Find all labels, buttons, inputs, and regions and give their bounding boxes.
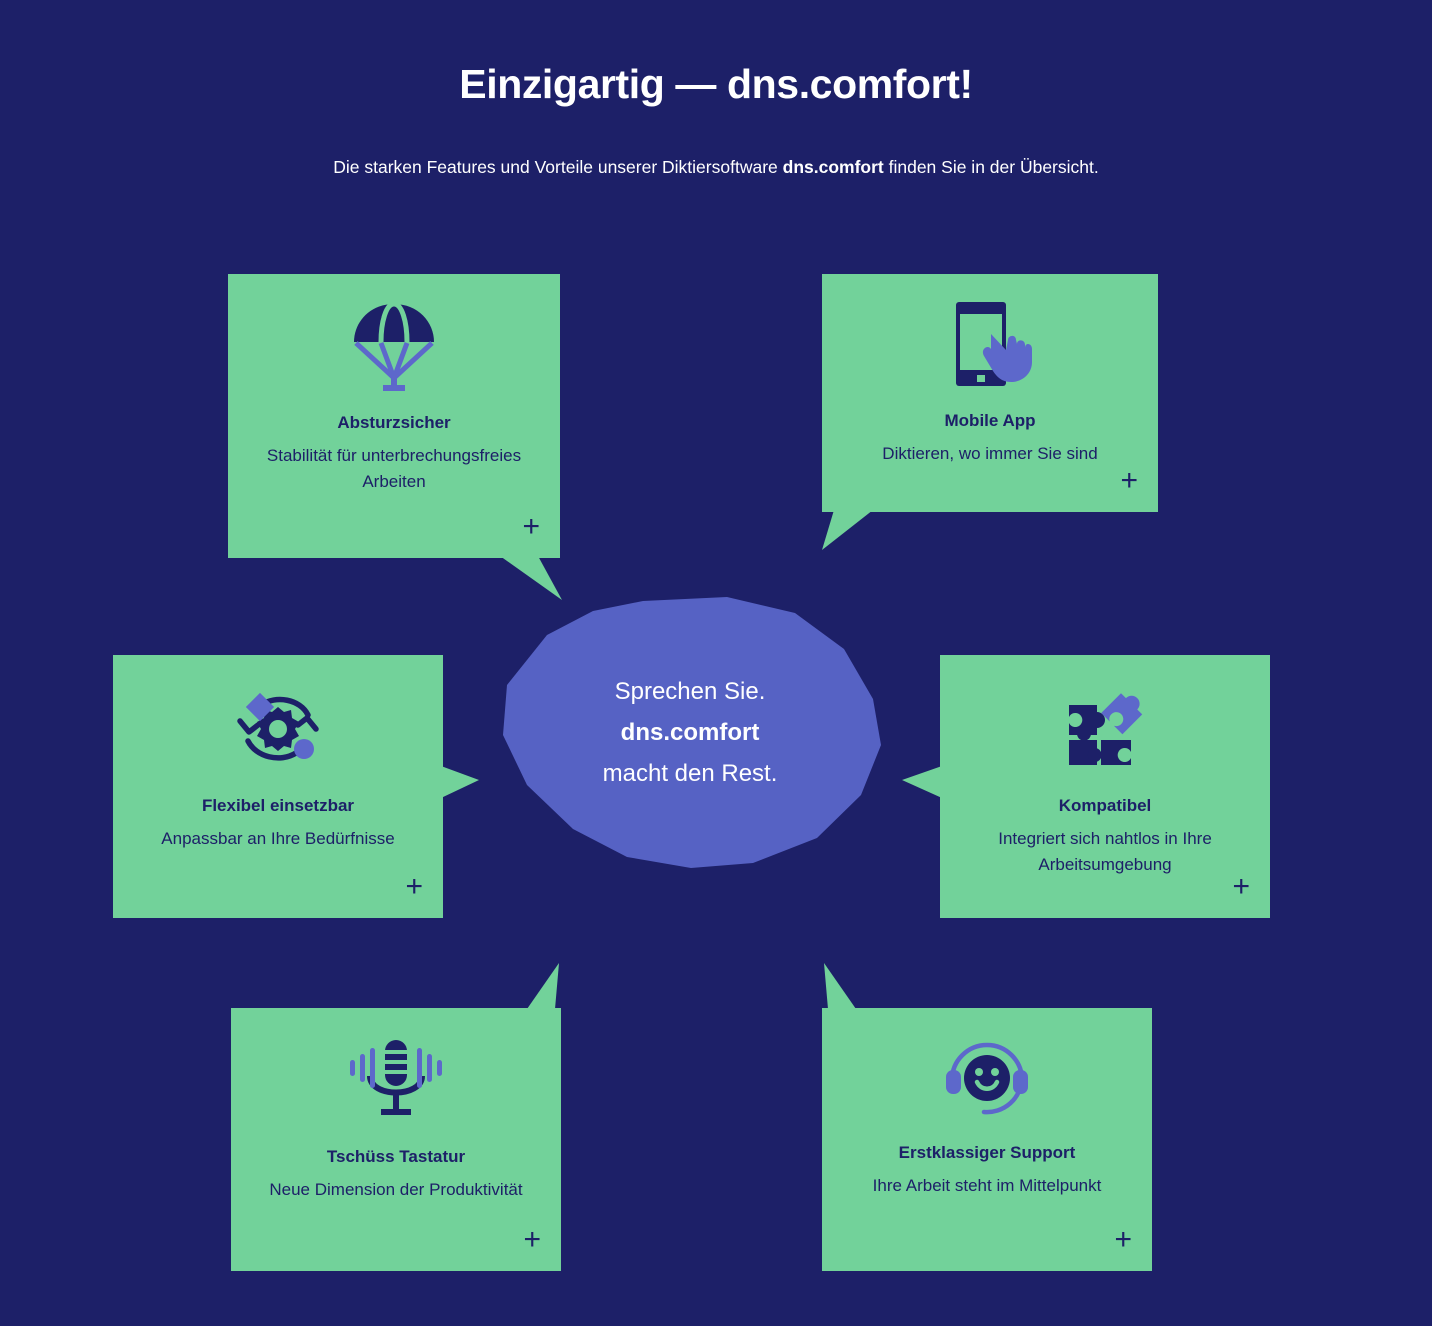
- page-subtitle: Die starken Features und Vorteile unsere…: [301, 153, 1131, 181]
- expand-plus-icon[interactable]: +: [522, 512, 540, 542]
- card-title: Flexibel einsetzbar: [202, 795, 354, 818]
- tail-support: [822, 963, 878, 1011]
- blob-line-1: Sprechen Sie.: [615, 671, 766, 712]
- feature-card-mobile-app[interactable]: Mobile App Diktieren, wo immer Sie sind …: [822, 274, 1158, 512]
- mobile-tap-icon: [944, 300, 1036, 388]
- puzzle-icon: [1055, 685, 1155, 765]
- feature-card-absturzsicher[interactable]: Absturzsicher Stabilität für unterbrechu…: [228, 274, 560, 558]
- tail-flexibel: [441, 766, 483, 802]
- card-title: Kompatibel: [1059, 795, 1152, 818]
- expand-plus-icon[interactable]: +: [523, 1225, 541, 1255]
- parachute-icon: [352, 300, 436, 392]
- card-title: Absturzsicher: [337, 412, 450, 435]
- card-description: Diktieren, wo immer Sie sind: [882, 441, 1097, 467]
- feature-card-erstklassiger-support[interactable]: Erstklassiger Support Ihre Arbeit steht …: [822, 1008, 1152, 1271]
- card-title: Mobile App: [945, 410, 1036, 433]
- expand-plus-icon[interactable]: +: [1232, 872, 1250, 902]
- blob-line-2: dns.comfort: [621, 712, 760, 753]
- expand-plus-icon[interactable]: +: [1114, 1225, 1132, 1255]
- feature-diagram: Absturzsicher Stabilität für unterbrechu…: [0, 0, 1432, 1326]
- card-title: Tschüss Tastatur: [327, 1146, 465, 1169]
- card-description: Ihre Arbeit steht im Mittelpunkt: [873, 1173, 1102, 1199]
- subtitle-text-pre: Die starken Features und Vorteile unsere…: [333, 157, 782, 177]
- card-description: Stabilität für unterbrechungsfreies Arbe…: [250, 443, 538, 496]
- subtitle-text-post: finden Sie in der Übersicht.: [884, 157, 1099, 177]
- microphone-icon: [346, 1036, 446, 1120]
- expand-plus-icon[interactable]: +: [1120, 466, 1138, 496]
- card-description: Anpassbar an Ihre Bedürfnisse: [161, 826, 394, 852]
- card-title: Erstklassiger Support: [899, 1142, 1076, 1165]
- expand-plus-icon[interactable]: +: [405, 872, 423, 902]
- feature-card-flexibel-einsetzbar[interactable]: Flexibel einsetzbar Anpassbar an Ihre Be…: [113, 655, 443, 918]
- tail-kompatibel: [898, 766, 942, 802]
- gear-refresh-icon: [228, 691, 328, 765]
- page-header: Einzigartig — dns.comfort! Die starken F…: [0, 0, 1432, 181]
- card-description: Integriert sich nahtlos in Ihre Arbeitsu…: [962, 826, 1248, 879]
- feature-card-kompatibel[interactable]: Kompatibel Integriert sich nahtlos in Ih…: [940, 655, 1270, 918]
- subtitle-product-name: dns.comfort: [783, 157, 884, 177]
- tail-tastatur: [505, 963, 561, 1011]
- tail-mobile-app: [818, 510, 878, 555]
- centre-blob: Sprechen Sie. dns.comfort macht den Rest…: [495, 595, 885, 870]
- blob-text: Sprechen Sie. dns.comfort macht den Rest…: [495, 595, 885, 870]
- card-description: Neue Dimension der Produktivität: [269, 1177, 522, 1203]
- feature-card-tschuess-tastatur[interactable]: Tschüss Tastatur Neue Dimension der Prod…: [231, 1008, 561, 1271]
- headset-smiley-icon: [940, 1036, 1034, 1116]
- blob-line-3: macht den Rest.: [603, 753, 778, 794]
- page-title: Einzigartig — dns.comfort!: [0, 62, 1432, 107]
